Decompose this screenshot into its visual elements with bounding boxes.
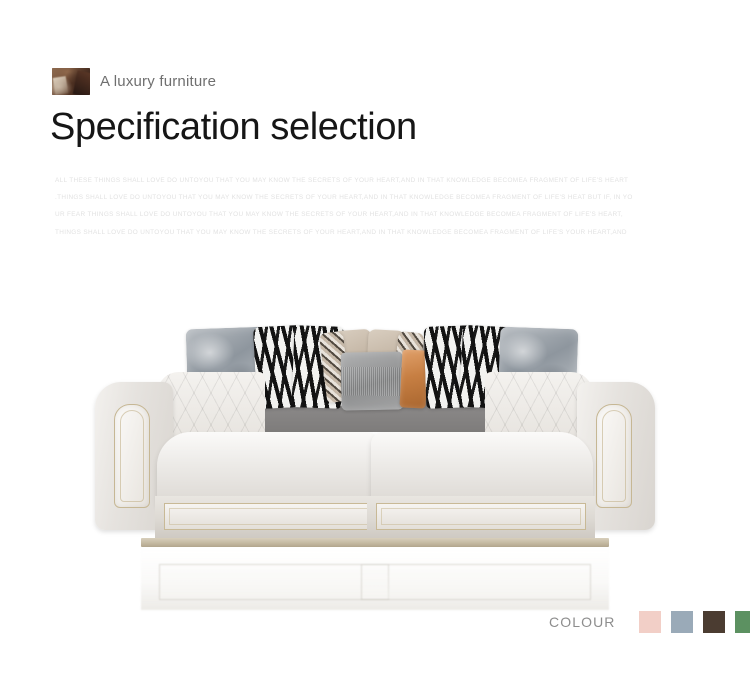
sofa-base-moulding-left [164, 503, 374, 530]
sofa-arm-panel-left [114, 404, 150, 508]
luxury-sofa-photo [95, 320, 655, 575]
swatch-dark-brown[interactable] [703, 611, 725, 633]
brand-row: A luxury furniture [52, 68, 216, 95]
description-line: ALL THESE THINGS SHALL LOVE DO UNTOYOU T… [55, 172, 655, 189]
sofa-arm-panel-right [596, 404, 632, 508]
colour-label: COLOUR [549, 614, 616, 630]
brand-label: A luxury furniture [100, 73, 216, 90]
sofa-base-right [367, 496, 595, 540]
description-line: UR FEAR THINGS SHALL LOVE DO UNTOYOU THA… [55, 206, 655, 223]
sofa-base-left [155, 496, 383, 540]
swatch-blush-pink[interactable] [639, 611, 661, 633]
sofa-base-moulding-right [376, 503, 586, 530]
sofa-floor-reflection [141, 548, 609, 610]
page-title: Specification selection [50, 106, 417, 149]
colour-selector: COLOUR [549, 611, 750, 633]
description-paragraph: ALL THESE THINGS SHALL LOVE DO UNTOYOU T… [55, 172, 655, 241]
furniture-photo-thumbnail-icon [52, 68, 90, 95]
description-line: THINGS SHALL LOVE DO UNTOYOU THAT YOU MA… [55, 224, 655, 241]
description-line: .THINGS SHALL LOVE DO UNTOYOU THAT YOU M… [55, 189, 655, 206]
sofa-seat-cushion-left [157, 432, 379, 506]
swatch-steel-blue[interactable] [671, 611, 693, 633]
sofa-plinth [141, 538, 609, 547]
product-specification-page: A luxury furniture Specification selecti… [0, 0, 750, 683]
swatch-green[interactable] [735, 611, 750, 633]
pillow-velvet-center [340, 351, 403, 410]
sofa-seat-cushion-right [371, 432, 593, 506]
colour-swatch-list[interactable] [639, 611, 750, 633]
